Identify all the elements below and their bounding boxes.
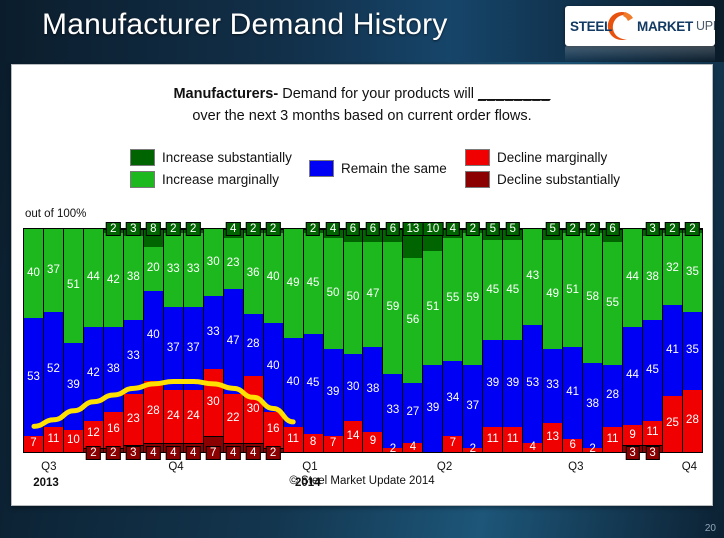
bar-value-label: 4 <box>186 446 200 460</box>
bar-segment-increase-marginally: 45 <box>503 240 522 340</box>
bar-value-label: 34 <box>446 393 459 405</box>
bar-value-label: 50 <box>347 292 360 304</box>
bar-value-label: 38 <box>107 364 120 376</box>
bar-segment-increase-substantially: 6 <box>363 229 382 242</box>
bar-segment-decline-marginally: 2 <box>463 448 482 452</box>
bar-value-label: 47 <box>227 336 240 348</box>
bar-segment-increase-substantially: 2 <box>244 229 263 233</box>
bar-segment-remain-the-same: 35 <box>683 312 702 390</box>
bar-segment-decline-marginally: 10 <box>64 430 83 452</box>
chart-bar: 24040162 <box>264 229 284 452</box>
bar-value-label: 36 <box>247 268 260 280</box>
bar-value-label: 4 <box>246 446 260 460</box>
bar-value-label: 30 <box>207 397 220 409</box>
bar-segment-increase-marginally: 58 <box>583 233 602 362</box>
bar-segment-increase-marginally: 23 <box>224 238 243 289</box>
bar-segment-decline-marginally: 12 <box>84 421 103 448</box>
question-bold-lead: Manufacturers- <box>173 86 278 102</box>
bar-segment-increase-substantially: 2 <box>583 229 602 233</box>
bar-value-label: 2 <box>565 222 579 236</box>
bar-value-label: 2 <box>470 444 476 456</box>
bar-value-label: 33 <box>127 351 140 363</box>
bar-value-label: 28 <box>247 339 260 351</box>
bar-segment-decline-substantially: 4 <box>144 443 163 452</box>
x-axis-tick-0: Q3 <box>37 461 61 473</box>
bar-segment-increase-marginally: 33 <box>164 233 183 307</box>
bar-segment-decline-substantially: 4 <box>164 443 183 452</box>
bar-segment-remain-the-same: 53 <box>24 318 43 436</box>
x-axis-tick-4: Q3 <box>564 461 588 473</box>
bar-value-label: 9 <box>370 436 376 448</box>
bar-value-label: 22 <box>227 413 240 425</box>
content-card: Manufacturers- Demand for your products … <box>11 64 713 506</box>
bar-segment-remain-the-same: 30 <box>344 354 363 421</box>
chart-bar: 6552811 <box>603 229 623 452</box>
bar-value-label: 8 <box>310 437 316 449</box>
bar-value-label: 2 <box>589 444 595 456</box>
chart-bar: 82040284 <box>144 229 164 452</box>
bar-segment-decline-marginally: 28 <box>144 381 163 443</box>
bar-value-label: 16 <box>107 424 120 436</box>
bar-value-label: 39 <box>486 378 499 390</box>
bar-segment-increase-substantially: 4 <box>224 229 243 238</box>
bar-value-label: 49 <box>287 278 300 290</box>
bar-segment-increase-substantially: 6 <box>383 229 402 242</box>
bar-segment-increase-marginally: 45 <box>304 233 323 333</box>
bar-segment-increase-substantially: 8 <box>144 229 163 247</box>
chart-bar: 513910 <box>64 229 84 452</box>
bar-value-label: 40 <box>287 377 300 389</box>
bar-segment-increase-marginally: 40 <box>264 233 283 322</box>
bar-value-label: 4 <box>530 442 536 454</box>
legend-item-decline-marginally: Decline marginally <box>465 146 620 168</box>
bar-segment-decline-marginally: 8 <box>304 434 323 452</box>
bar-segment-decline-marginally: 25 <box>663 396 682 452</box>
bar-value-label: 6 <box>346 222 360 236</box>
bar-value-label: 23 <box>227 258 240 270</box>
bar-value-label: 5 <box>506 222 520 236</box>
bar-value-label: 4 <box>226 222 240 236</box>
bar-value-label: 6 <box>569 440 575 452</box>
bar-segment-remain-the-same: 42 <box>84 327 103 421</box>
page-title: Manufacturer Demand History <box>42 8 448 42</box>
bar-segment-remain-the-same: 34 <box>443 361 462 437</box>
bar-segment-increase-substantially: 6 <box>603 229 622 242</box>
logo-reflection <box>565 46 715 62</box>
bar-segment-decline-marginally: 11 <box>44 427 63 452</box>
bar-value-label: 6 <box>386 222 400 236</box>
bar-segment-increase-substantially: 2 <box>104 229 123 233</box>
bar-segment-increase-marginally: 59 <box>463 233 482 365</box>
bar-segment-remain-the-same: 39 <box>483 340 502 427</box>
bar-segment-decline-marginally: 4 <box>403 443 422 452</box>
bar-value-label: 4 <box>226 446 240 460</box>
bar-value-label: 58 <box>586 292 599 304</box>
bar-segment-decline-marginally: 9 <box>363 432 382 452</box>
chart-bar: 450397 <box>324 229 344 452</box>
bar-segment-remain-the-same: 40 <box>284 338 303 427</box>
bar-value-label: 7 <box>330 438 336 450</box>
bar-segment-remain-the-same: 38 <box>363 347 382 432</box>
chart-bar: 1356274 <box>403 229 423 452</box>
bar-segment-decline-marginally: 24 <box>164 390 183 444</box>
bar-segment-increase-marginally: 51 <box>563 233 582 347</box>
bar-value-label: 2 <box>106 446 120 460</box>
legend-item-increase-substantially: Increase substantially <box>130 146 292 168</box>
x-axis-tick-1: Q4 <box>164 461 188 473</box>
bar-segment-increase-marginally: 44 <box>623 229 642 327</box>
legend-label-increase-substantially: Increase substantially <box>162 150 292 165</box>
bar-value-label: 7 <box>450 438 456 450</box>
bar-value-label: 2 <box>246 222 260 236</box>
bar-segment-increase-marginally: 59 <box>383 242 402 374</box>
bar-segment-decline-marginally: 6 <box>563 439 582 452</box>
bar-value-label: 42 <box>107 275 120 287</box>
bar-segment-remain-the-same: 47 <box>224 289 243 394</box>
bar-segment-increase-marginally: 51 <box>423 251 442 365</box>
bar-segment-increase-marginally: 38 <box>643 236 662 321</box>
chart-bar: 23628304 <box>244 229 264 452</box>
bar-segment-decline-substantially: 2 <box>264 448 283 452</box>
bar-segment-remain-the-same: 38 <box>583 363 602 448</box>
legend-label-decline-marginally: Decline marginally <box>497 150 607 165</box>
bar-segment-increase-marginally: 37 <box>44 229 63 312</box>
bar-value-label: 24 <box>167 411 180 423</box>
bar-segment-decline-marginally: 11 <box>643 421 662 446</box>
bar-segment-remain-the-same: 41 <box>563 347 582 438</box>
chart-bar: 251416 <box>563 229 583 452</box>
chart-bar: 5493313 <box>543 229 563 452</box>
chart-bar: 23337244 <box>164 229 184 452</box>
bar-value-label: 56 <box>406 315 419 327</box>
bar-segment-increase-marginally: 45 <box>483 240 502 340</box>
bar-value-label: 33 <box>387 405 400 417</box>
bar-value-label: 44 <box>626 370 639 382</box>
bar-value-label: 4 <box>166 446 180 460</box>
bar-value-label: 52 <box>47 364 60 376</box>
bar-segment-increase-substantially: 2 <box>304 229 323 233</box>
bar-segment-increase-marginally: 49 <box>284 229 303 338</box>
bar-segment-increase-marginally: 38 <box>124 236 143 321</box>
bar-value-label: 45 <box>646 365 659 377</box>
bar-value-label: 51 <box>67 280 80 292</box>
logo-text-market: MARKET <box>637 19 693 34</box>
legend-swatch-increase-substantially <box>130 149 155 166</box>
bar-value-label: 11 <box>507 434 519 446</box>
bar-value-label: 51 <box>566 285 579 297</box>
bar-value-label: 2 <box>466 222 480 236</box>
bar-value-label: 39 <box>327 387 340 399</box>
chart-bar: 2324125 <box>663 229 683 452</box>
bar-segment-decline-marginally: 28 <box>683 390 702 452</box>
bar-segment-increase-marginally: 51 <box>64 229 83 343</box>
chart-bar: 647389 <box>363 229 383 452</box>
bar-segment-decline-marginally: 13 <box>543 423 562 452</box>
bar-segment-decline-substantially: 3 <box>124 445 143 452</box>
axis-note: out of 100% <box>25 208 86 220</box>
bar-segment-remain-the-same: 45 <box>643 320 662 420</box>
bar-segment-increase-marginally: 30 <box>204 229 223 296</box>
bar-segment-increase-marginally: 55 <box>603 242 622 365</box>
chart-bar: 40537 <box>24 229 44 452</box>
bar-value-label: 49 <box>546 289 559 301</box>
bar-value-label: 8 <box>146 222 160 236</box>
bar-segment-increase-substantially: 4 <box>324 229 343 238</box>
bar-segment-remain-the-same: 39 <box>503 340 522 427</box>
bar-segment-increase-substantially: 10 <box>423 229 442 251</box>
bar-value-label: 30 <box>247 404 260 416</box>
bar-value-label: 2 <box>665 222 679 236</box>
bar-segment-increase-substantially: 13 <box>403 229 422 258</box>
x-axis-tick-2: Q1 <box>298 461 322 473</box>
bar-value-label: 4 <box>446 222 460 236</box>
bar-value-label: 39 <box>426 403 439 415</box>
legend-item-increase-marginally: Increase marginally <box>130 168 292 190</box>
bar-segment-increase-marginally: 55 <box>443 238 462 361</box>
bar-value-label: 53 <box>526 378 539 390</box>
bar-value-label: 28 <box>686 415 699 427</box>
chart-bar: 5453911 <box>483 229 503 452</box>
bar-value-label: 6 <box>605 222 619 236</box>
x-axis-tick-5: Q4 <box>677 461 701 473</box>
bar-segment-decline-substantially: 2 <box>84 448 103 452</box>
bar-segment-increase-marginally: 56 <box>403 258 422 383</box>
bar-value-label: 43 <box>526 271 539 283</box>
chart-bar: 23337244 <box>184 229 204 452</box>
bar-value-label: 35 <box>686 267 699 279</box>
bar-segment-remain-the-same: 33 <box>204 296 223 370</box>
bar-segment-decline-marginally: 7 <box>443 436 462 452</box>
bar-segment-increase-substantially: 5 <box>483 229 502 240</box>
bar-value-label: 35 <box>686 345 699 357</box>
bar-value-label: 3 <box>126 446 140 460</box>
bar-value-label: 27 <box>406 407 419 419</box>
bar-segment-remain-the-same: 37 <box>184 307 203 390</box>
bar-segment-remain-the-same: 37 <box>463 365 482 448</box>
bar-segment-decline-substantially: 7 <box>204 436 223 452</box>
bar-value-label: 2 <box>86 446 100 460</box>
bar-segment-remain-the-same: 33 <box>543 349 562 423</box>
bar-value-label: 50 <box>327 288 340 300</box>
bar-segment-remain-the-same: 38 <box>104 327 123 412</box>
bar-segment-decline-marginally: 30 <box>204 369 223 436</box>
legend-item-decline-substantially: Decline substantially <box>465 168 620 190</box>
bar-segment-increase-substantially: 2 <box>463 229 482 233</box>
bar-value-label: 3 <box>645 446 659 460</box>
bar-segment-decline-marginally: 11 <box>483 427 502 452</box>
legend-label-increase-marginally: Increase marginally <box>162 172 279 187</box>
bar-value-label: 12 <box>87 428 100 440</box>
bar-value-label: 45 <box>307 378 320 390</box>
legend-label-decline-substantially: Decline substantially <box>497 172 620 187</box>
bar-segment-increase-substantially: 2 <box>164 229 183 233</box>
bar-value-label: 38 <box>586 399 599 411</box>
bar-segment-increase-substantially: 5 <box>503 229 522 240</box>
bar-segment-decline-marginally: 2 <box>383 448 402 452</box>
bar-value-label: 5 <box>486 222 500 236</box>
bar-value-label: 2 <box>390 444 396 456</box>
bar-segment-decline-marginally: 7 <box>24 436 43 452</box>
legend-item-remain-the-same: Remain the same <box>309 157 447 179</box>
bar-segment-increase-substantially: 2 <box>663 229 682 233</box>
bar-segment-increase-marginally: 50 <box>344 242 363 354</box>
bar-segment-increase-marginally: 50 <box>324 238 343 350</box>
legend-swatch-decline-substantially <box>465 171 490 188</box>
bar-segment-remain-the-same: 28 <box>244 314 263 376</box>
bar-segment-remain-the-same: 40 <box>144 291 163 380</box>
bar-value-label: 4 <box>146 446 160 460</box>
bar-segment-decline-marginally: 9 <box>623 425 642 445</box>
bar-segment-remain-the-same: 44 <box>623 327 642 425</box>
chart-bar: 659332 <box>383 229 403 452</box>
bar-value-label: 38 <box>127 272 140 284</box>
question-blank: ________ <box>478 86 551 102</box>
chart-bar: 33833233 <box>124 229 144 452</box>
bar-value-label: 41 <box>566 387 579 399</box>
bar-value-label: 45 <box>506 285 519 297</box>
bar-value-label: 10 <box>67 435 80 447</box>
bar-segment-remain-the-same: 45 <box>304 334 323 434</box>
bar-segment-increase-substantially: 5 <box>543 229 562 240</box>
bar-value-label: 7 <box>206 446 220 460</box>
bar-value-label: 33 <box>167 264 180 276</box>
bar-segment-decline-marginally: 7 <box>324 436 343 452</box>
bar-value-label: 11 <box>487 434 499 446</box>
bar-segment-increase-marginally: 40 <box>24 229 43 318</box>
bar-segment-remain-the-same: 33 <box>124 320 143 394</box>
chart-bar: 42347224 <box>224 229 244 452</box>
legend-swatch-remain-the-same <box>309 160 334 177</box>
bar-value-label: 41 <box>666 345 679 357</box>
bar-segment-increase-marginally: 42 <box>104 233 123 327</box>
chart-plot-area: 4053737521151391044421222423816233833233… <box>23 228 703 453</box>
bar-value-label: 2 <box>106 222 120 236</box>
bar-segment-increase-marginally: 47 <box>363 242 382 347</box>
bar-segment-decline-marginally: 14 <box>344 421 363 452</box>
bar-value-label: 2 <box>266 446 280 460</box>
bar-value-label: 28 <box>606 390 619 402</box>
bar-segment-decline-substantially: 4 <box>184 443 203 452</box>
bar-segment-remain-the-same: 41 <box>663 305 682 396</box>
bar-value-label: 47 <box>367 289 380 301</box>
chart-bar: 494011 <box>284 229 304 452</box>
bar-value-label: 59 <box>466 293 479 305</box>
bar-segment-remain-the-same: 40 <box>264 323 283 412</box>
bar-value-label: 3 <box>625 446 639 460</box>
bar-value-label: 3 <box>645 222 659 236</box>
bar-value-label: 53 <box>27 372 40 384</box>
bar-value-label: 40 <box>147 330 160 342</box>
chart-bar: 105139 <box>423 229 443 452</box>
bar-segment-remain-the-same: 39 <box>64 343 83 430</box>
bar-value-label: 7 <box>30 438 36 450</box>
bar-segment-increase-substantially: 2 <box>683 229 702 233</box>
bar-segment-decline-marginally: 11 <box>284 427 303 452</box>
bar-segment-decline-marginally: 11 <box>503 427 522 452</box>
chart-bar: 43534 <box>523 229 543 452</box>
bar-value-label: 32 <box>666 263 679 275</box>
bar-value-label: 30 <box>207 257 220 269</box>
bar-segment-decline-substantially: 3 <box>643 445 662 452</box>
bar-value-label: 38 <box>646 272 659 284</box>
bar-segment-remain-the-same: 33 <box>383 374 402 448</box>
bar-segment-decline-marginally: 4 <box>523 443 542 452</box>
bar-segment-increase-marginally: 35 <box>683 233 702 311</box>
bar-value-label: 33 <box>207 327 220 339</box>
bar-segment-decline-marginally: 16 <box>264 412 283 448</box>
bar-value-label: 37 <box>47 265 60 277</box>
bar-value-label: 6 <box>366 222 380 236</box>
legend-column-2: Remain the same <box>309 157 447 179</box>
legend-column-3: Decline marginally Decline substantially <box>465 146 620 190</box>
bar-segment-increase-marginally: 20 <box>144 247 163 292</box>
bar-segment-decline-substantially: 4 <box>224 443 243 452</box>
chart-bar: 6503014 <box>344 229 364 452</box>
slide-root: Manufacturer Demand History STEEL MARKET… <box>0 0 724 538</box>
bar-value-label: 11 <box>287 434 299 446</box>
bar-value-label: 44 <box>626 272 639 284</box>
bar-segment-decline-marginally: 2 <box>583 448 602 452</box>
bar-segment-increase-marginally: 36 <box>244 233 263 313</box>
bar-segment-remain-the-same: 37 <box>164 307 183 390</box>
bar-value-label: 2 <box>166 222 180 236</box>
bar-value-label: 45 <box>307 278 320 290</box>
bar-segment-remain-the-same: 27 <box>403 383 422 443</box>
bar-value-label: 13 <box>402 222 423 236</box>
bar-value-label: 4 <box>326 222 340 236</box>
bar-segment-increase-substantially: 3 <box>124 229 143 236</box>
bar-segment-increase-marginally: 49 <box>543 240 562 349</box>
bar-segment-increase-substantially: 6 <box>344 229 363 242</box>
bar-value-label: 10 <box>422 222 443 236</box>
steel-market-update-logo: STEEL MARKET UPDATE <box>565 6 715 46</box>
bar-value-label: 55 <box>606 298 619 310</box>
bar-value-label: 2 <box>266 222 280 236</box>
bar-segment-decline-marginally: 11 <box>603 427 622 452</box>
bar-segment-increase-substantially: 4 <box>443 229 462 238</box>
bar-value-label: 38 <box>367 384 380 396</box>
bar-value-label: 51 <box>426 302 439 314</box>
bar-segment-increase-substantially: 2 <box>184 229 203 233</box>
bar-segment-increase-marginally: 43 <box>523 229 542 325</box>
bar-value-label: 2 <box>186 222 200 236</box>
page-number: 20 <box>705 523 716 534</box>
chart-bar: 33845113 <box>643 229 663 452</box>
bar-segment-decline-marginally: 30 <box>244 376 263 443</box>
bar-value-label: 37 <box>466 401 479 413</box>
bar-value-label: 16 <box>267 424 280 436</box>
bar-value-label: 37 <box>187 343 200 355</box>
chart-bar: 245458 <box>304 229 324 452</box>
chart-bar: 375211 <box>44 229 64 452</box>
bar-segment-remain-the-same: 53 <box>523 325 542 443</box>
bar-value-label: 4 <box>410 442 416 454</box>
chart-bar: 258382 <box>583 229 603 452</box>
bar-value-label: 40 <box>267 361 280 373</box>
bar-segment-remain-the-same: 39 <box>423 365 442 452</box>
bar-value-label: 59 <box>387 302 400 314</box>
logo-text-steel: STEEL <box>570 19 612 34</box>
legend-label-remain-the-same: Remain the same <box>341 161 447 176</box>
bar-value-label: 13 <box>546 432 559 444</box>
bar-value-label: 25 <box>666 418 679 430</box>
chart-bar: 4442122 <box>84 229 104 452</box>
bar-segment-decline-marginally: 23 <box>124 394 143 445</box>
bar-value-label: 5 <box>545 222 559 236</box>
bar-segment-remain-the-same: 52 <box>44 312 63 428</box>
bar-value-label: 28 <box>147 406 160 418</box>
bar-value-label: 37 <box>167 343 180 355</box>
